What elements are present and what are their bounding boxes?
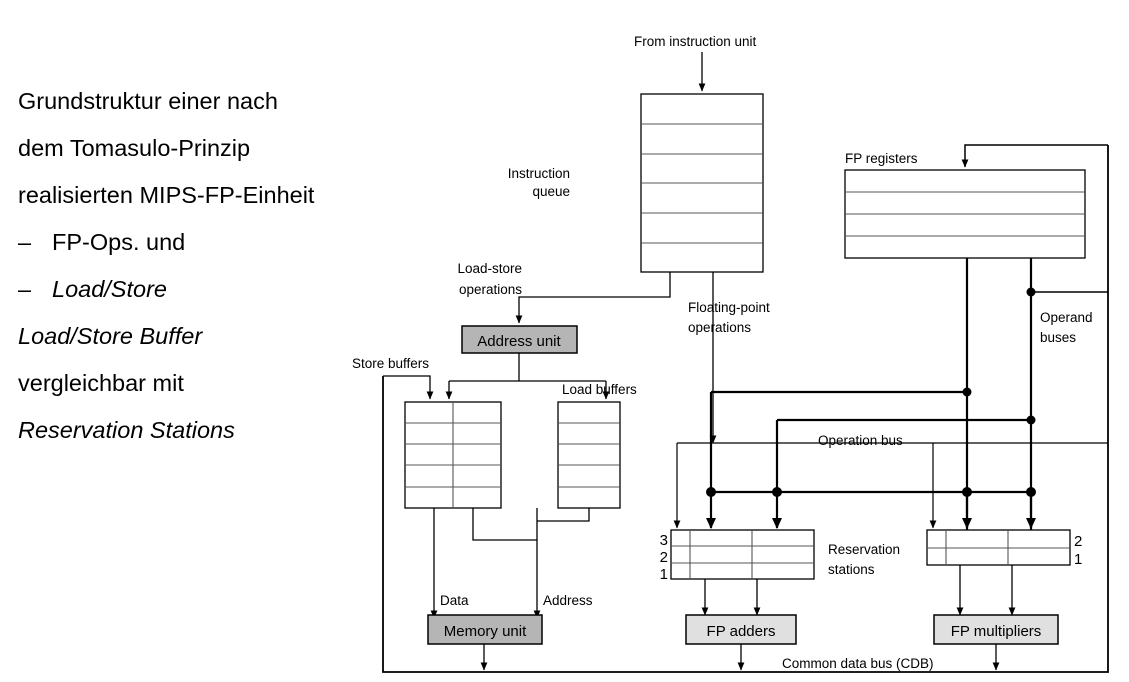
slide-root: Grundstruktur einer nach dem Tomasulo-Pr… (0, 0, 1129, 682)
rs-left-row-number-3: 3 (660, 532, 668, 549)
rs-left-row-number-2: 2 (660, 549, 668, 566)
label-address: Address (543, 593, 593, 608)
label-instruction-queue-line1: Instruction (508, 166, 570, 181)
label-instruction-queue-line2: queue (532, 184, 570, 199)
fp-adders-label: FP adders (707, 623, 776, 640)
label-from-instruction-unit: From instruction unit (634, 34, 757, 49)
label-fp-ops-line2: operations (688, 320, 751, 335)
rs-right-row-number-2: 2 (1074, 533, 1082, 550)
reservation-stations-left-box (671, 530, 814, 579)
label-reservation-stations-line1: Reservation (828, 542, 900, 557)
wire-load-address-join (537, 508, 589, 521)
label-store-buffers: Store buffers (352, 356, 429, 371)
label-operation-bus: Operation bus (818, 433, 903, 448)
wire-store-address-join (473, 508, 537, 540)
label-load-buffers: Load buffers (562, 382, 637, 397)
junction-dot (963, 388, 972, 397)
tomasulo-diagram: From instruction unit Instruction queue … (0, 0, 1129, 682)
wire-load-store-operations (519, 272, 670, 323)
label-reservation-stations-line2: stations (828, 562, 875, 577)
junction-dot (772, 487, 782, 497)
junction-dot (706, 487, 716, 497)
label-fp-registers: FP registers (845, 151, 918, 166)
diagram-wires (383, 52, 1108, 672)
label-operand-buses-line2: buses (1040, 330, 1076, 345)
junction-dot (1027, 288, 1036, 297)
label-common-data-bus: Common data bus (CDB) (782, 656, 934, 671)
label-operand-buses-line1: Operand (1040, 310, 1093, 325)
address-unit-label: Address unit (477, 333, 561, 350)
label-load-store-ops-line1: Load-store (457, 261, 522, 276)
wire-cdb-to-fp-registers (965, 145, 1108, 167)
label-load-store-ops-line2: operations (459, 282, 522, 297)
rs-right-row-number-1: 1 (1074, 551, 1082, 568)
junction-dot (1027, 416, 1036, 425)
label-fp-ops-line1: Floating-point (688, 300, 770, 315)
memory-unit-label: Memory unit (444, 623, 527, 640)
fp-multipliers-label: FP multipliers (951, 623, 1042, 640)
wire-cdb-to-store-buffers (383, 376, 430, 399)
load-buffers-box (558, 402, 620, 508)
rs-left-row-number-1: 1 (660, 566, 668, 583)
label-data: Data (440, 593, 469, 608)
